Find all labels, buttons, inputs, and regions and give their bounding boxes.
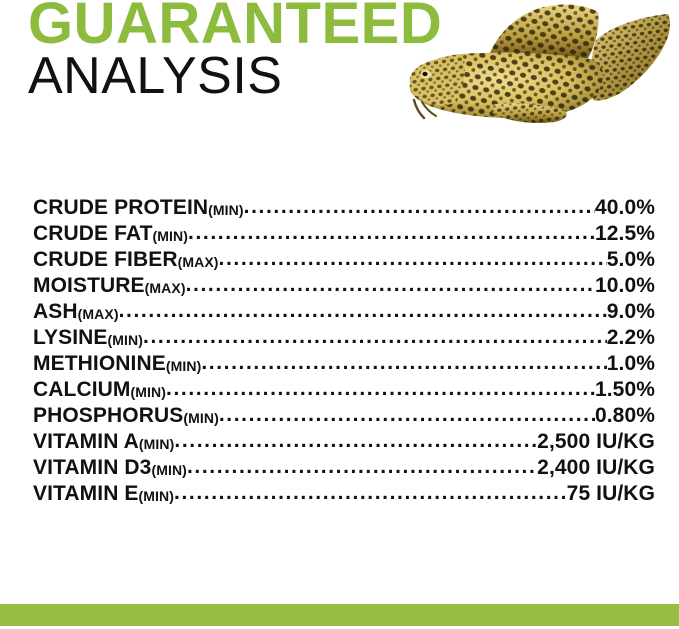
nutrient-basis: (MIN): [131, 384, 167, 400]
nutrient-name: LYSINE: [33, 326, 108, 350]
nutrient-value: 75 IU/KG: [567, 482, 655, 506]
nutrient-basis: (MIN): [166, 358, 202, 374]
analysis-row: PHOSPHORUS(MIN).........................…: [33, 404, 655, 430]
analysis-row: CALCIUM(MIN)............................…: [33, 378, 655, 404]
nutrient-name: MOISTURE: [33, 274, 145, 298]
nutrient-name: CRUDE FIBER: [33, 248, 178, 272]
nutrient-basis: (MIN): [108, 332, 144, 348]
nutrient-name: METHIONINE: [33, 352, 166, 376]
bottom-accent-bar: [0, 604, 679, 626]
fish-tail-fin: [591, 14, 670, 101]
analysis-row: ASH(MAX)................................…: [33, 300, 655, 326]
nutrient-value: 1.50%: [595, 378, 655, 402]
dot-leader: ........................................…: [186, 274, 595, 297]
nutrient-name: VITAMIN A: [33, 430, 139, 454]
nutrient-basis: (MIN): [153, 228, 189, 244]
nutrient-value: 2,400 IU/KG: [537, 456, 655, 480]
analysis-row: CRUDE FIBER(MAX)........................…: [33, 248, 655, 274]
nutrient-basis: (MAX): [178, 254, 219, 270]
dot-leader: ........................................…: [174, 482, 567, 505]
nutrient-basis: (MIN): [208, 202, 244, 218]
nutrient-value: 12.5%: [595, 222, 655, 246]
dot-leader: ........................................…: [166, 378, 595, 401]
dot-leader: ........................................…: [119, 300, 607, 323]
nutrient-value: 1.0%: [607, 352, 655, 376]
analysis-row: VITAMIN E(MIN)..........................…: [33, 482, 655, 508]
dot-leader: ........................................…: [219, 404, 595, 427]
nutrient-name: CRUDE PROTEIN: [33, 196, 208, 220]
nutrient-name: PHOSPHORUS: [33, 404, 183, 428]
label-header: GUARANTEED ANALYSIS: [0, 0, 679, 140]
nutrient-name: VITAMIN E: [33, 482, 139, 506]
nutrient-basis: (MIN): [139, 436, 175, 452]
page-title: GUARANTEED ANALYSIS: [28, 0, 442, 102]
nutrient-value: 9.0%: [607, 300, 655, 324]
dot-leader: ........................................…: [244, 196, 595, 219]
nutrient-value: 40.0%: [595, 196, 655, 220]
nutrient-value: 2.2%: [607, 326, 655, 350]
nutrient-basis: (MIN): [151, 462, 187, 478]
dot-leader: ........................................…: [143, 326, 607, 349]
dot-leader: ........................................…: [174, 430, 537, 453]
analysis-row: MOISTURE(MAX)...........................…: [33, 274, 655, 300]
analysis-row: METHIONINE(MIN).........................…: [33, 352, 655, 378]
dot-leader: ........................................…: [219, 248, 607, 271]
title-analysis: ANALYSIS: [28, 50, 442, 102]
nutrient-name: CRUDE FAT: [33, 222, 153, 246]
fish-dorsal-fin: [488, 5, 599, 60]
nutrient-name: ASH: [33, 300, 78, 324]
nutrient-basis: (MIN): [183, 410, 219, 426]
analysis-row: VITAMIN D3(MIN).........................…: [33, 456, 655, 482]
analysis-row: LYSINE(MIN).............................…: [33, 326, 655, 352]
nutrient-value: 10.0%: [595, 274, 655, 298]
nutrient-name: VITAMIN D3: [33, 456, 151, 480]
guaranteed-analysis-table: CRUDE PROTEIN(MIN)......................…: [33, 196, 655, 508]
analysis-row: CRUDE PROTEIN(MIN)......................…: [33, 196, 655, 222]
nutrient-basis: (MAX): [78, 306, 119, 322]
nutrient-value: 2,500 IU/KG: [537, 430, 655, 454]
dot-leader: ........................................…: [188, 222, 595, 245]
analysis-row: CRUDE FAT(MIN)..........................…: [33, 222, 655, 248]
analysis-row: VITAMIN A(MIN)..........................…: [33, 430, 655, 456]
dot-leader: ........................................…: [201, 352, 606, 375]
nutrient-value: 5.0%: [607, 248, 655, 272]
title-guaranteed: GUARANTEED: [28, 0, 442, 52]
spotted-pleco-fish-image: [400, 0, 679, 125]
nutrient-basis: (MIN): [139, 488, 175, 504]
nutrient-basis: (MAX): [145, 280, 186, 296]
nutrient-name: CALCIUM: [33, 378, 131, 402]
dot-leader: ........................................…: [187, 456, 537, 479]
nutrient-value: 0.80%: [595, 404, 655, 428]
guaranteed-analysis-label: GUARANTEED ANALYSIS: [0, 0, 679, 629]
